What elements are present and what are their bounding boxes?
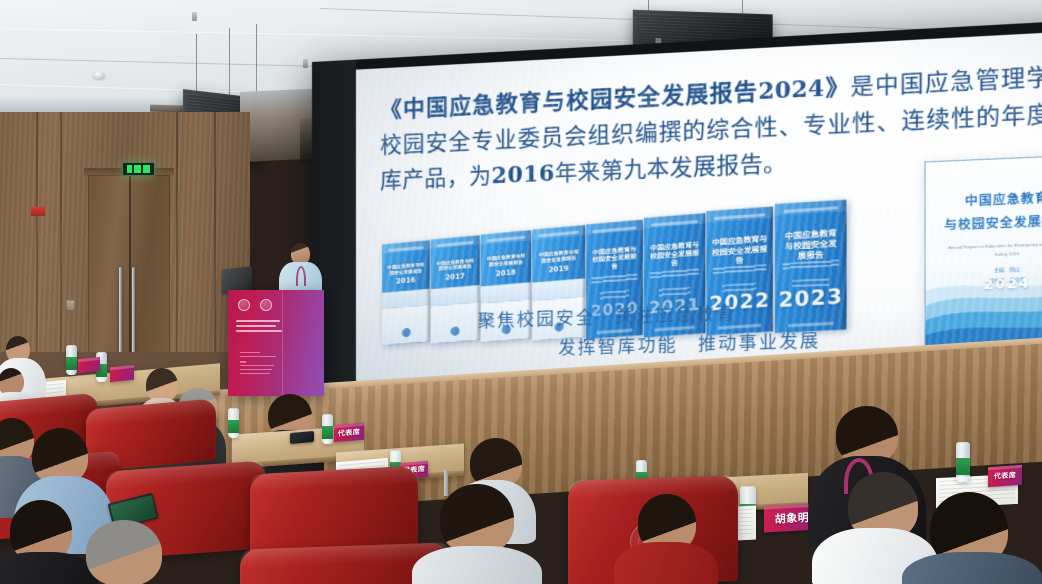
attendee-body [0, 552, 98, 584]
organization-emblem-icon [238, 299, 250, 311]
podium-banner-subtext [240, 352, 276, 376]
name-placard [78, 357, 100, 373]
organization-emblem-icon [260, 299, 272, 311]
podium-banner-title [236, 320, 280, 335]
podium-banner [228, 290, 324, 396]
slide-text-seg4: 年来第九本发 [555, 155, 693, 187]
sprinkler-head-icon [192, 12, 197, 21]
speaker-wire [229, 28, 230, 96]
water-bottle [956, 442, 970, 482]
water-bottle [66, 345, 77, 375]
conference-hall-photo: 《中国应急教育与校园安全发展报告2024》是中国应急管理学会校园安全专业委员会组… [0, 0, 1042, 584]
featured-cover-title-line2: 与校园安全发展报告 [938, 209, 1042, 237]
name-placard-label: 胡象明 [775, 509, 810, 527]
speaker-wire [742, 0, 743, 14]
name-placard: 代表席 [988, 465, 1022, 487]
book-cover: 中国应急教育与校园安全发展报告 2017 [431, 235, 480, 344]
slide-text-seg5: 展报告。 [693, 150, 787, 180]
name-placard-label: 代表席 [994, 470, 1017, 482]
light-switch[interactable] [66, 300, 75, 311]
book-title: 中国应急教育与校园安全发展报告 [591, 245, 639, 272]
attendee-body [412, 546, 542, 584]
podium-emblems [238, 299, 272, 311]
attendee-head [86, 520, 162, 584]
book-cover: 中国应急教育与校园安全发展报告 2016 [382, 240, 430, 345]
speaker-wire [256, 24, 257, 94]
featured-cover-title: 中国应急教育 与校园安全发展报告 [938, 186, 1042, 236]
book-title: 中国应急教育与校园安全发展报告 [649, 240, 701, 269]
wall-sign [31, 207, 45, 216]
book-title: 中国应急教育与校园安全发展报告 [781, 228, 841, 263]
attendee-head [440, 484, 514, 554]
attendee-head [146, 368, 178, 402]
sprinkler-head-icon [303, 59, 308, 68]
mobile-phone [290, 431, 314, 444]
presentation-slide: 《中国应急教育与校园安全发展报告2024》是中国应急管理学会校园安全专业委员会组… [356, 30, 1042, 387]
attendee-body [614, 542, 718, 584]
slide-text-year: 2016 [491, 161, 554, 189]
desk-leg [444, 470, 448, 496]
smoke-detector-icon [93, 72, 105, 79]
featured-cover-english-subtitle: Annual Report on Education for Emergency… [945, 240, 1042, 261]
book-title: 中国应急教育与校园安全发展报告 [712, 234, 768, 266]
speaker-wire [196, 34, 197, 96]
water-bottle [322, 414, 333, 444]
name-placard-label: 代表席 [338, 427, 361, 439]
name-placard: 代表席 [334, 423, 364, 443]
exit-sign-icon [122, 162, 155, 176]
attendee-body [902, 552, 1042, 584]
name-placard [110, 365, 134, 383]
featured-cover-title-line1: 中国应急教育 [938, 186, 1042, 214]
water-bottle [228, 408, 239, 438]
